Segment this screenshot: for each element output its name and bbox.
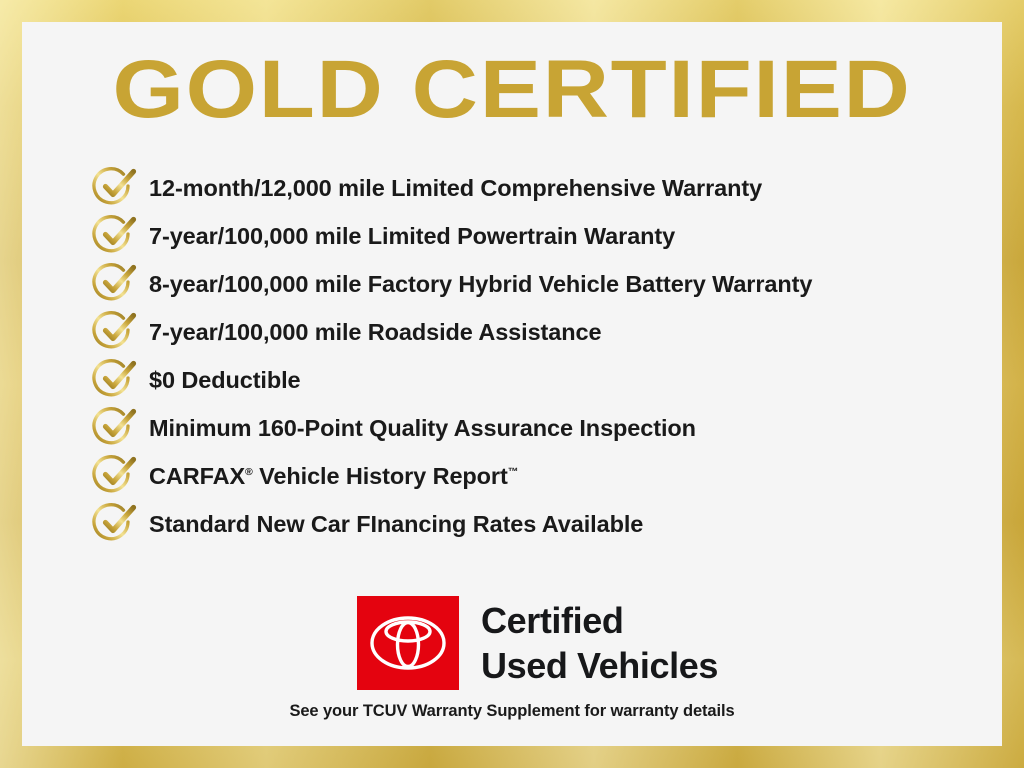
list-item-label: 8-year/100,000 mile Factory Hybrid Vehic… — [149, 271, 812, 297]
list-item: 7-year/100,000 mile Limited Powertrain W… — [92, 212, 992, 260]
carfax-word: CARFAX — [149, 463, 245, 489]
gold-check-circle-icon — [92, 501, 138, 545]
list-item: CARFAX® Vehicle History Report™ — [92, 452, 992, 500]
list-item: $0 Deductible — [92, 356, 992, 404]
list-item-label: 12-month/12,000 mile Limited Comprehensi… — [149, 175, 762, 201]
gold-check-circle-icon — [92, 309, 138, 353]
carfax-rest: Vehicle History Report — [253, 463, 508, 489]
list-item: Standard New Car FInancing Rates Availab… — [92, 500, 992, 548]
list-item-label: Standard New Car FInancing Rates Availab… — [149, 511, 643, 537]
lockup-text: Certified Used Vehicles — [481, 598, 718, 688]
toyota-emblem — [357, 596, 459, 690]
list-item: Minimum 160-Point Quality Assurance Insp… — [92, 404, 992, 452]
feature-list: 12-month/12,000 mile Limited Comprehensi… — [92, 164, 992, 548]
gold-check-circle-icon — [92, 261, 138, 305]
list-item: 7-year/100,000 mile Roadside Assistance — [92, 308, 992, 356]
list-item-label: 7-year/100,000 mile Roadside Assistance — [149, 319, 601, 345]
gold-check-circle-icon — [92, 357, 138, 401]
page-title: GOLD CERTIFIED — [0, 44, 1024, 136]
list-item-label-carfax: CARFAX® Vehicle History Report™ — [149, 463, 518, 489]
list-item-label: Minimum 160-Point Quality Assurance Insp… — [149, 415, 696, 441]
list-item: 12-month/12,000 mile Limited Comprehensi… — [92, 164, 992, 212]
gold-check-circle-icon — [92, 405, 138, 449]
gold-certified-badge: GOLD CERTIFIED — [0, 0, 1024, 768]
lockup-line-2: Used Vehicles — [481, 643, 718, 688]
lockup-line-1: Certified — [481, 598, 718, 643]
gold-check-circle-icon — [92, 213, 138, 257]
list-item: 8-year/100,000 mile Factory Hybrid Vehic… — [92, 260, 992, 308]
registered-mark: ® — [245, 466, 253, 478]
toyota-certified-lockup: Certified Used Vehicles — [357, 596, 718, 690]
trademark-mark: ™ — [508, 466, 518, 478]
gold-check-circle-icon — [92, 453, 138, 497]
list-item-label: 7-year/100,000 mile Limited Powertrain W… — [149, 223, 675, 249]
content-panel: GOLD CERTIFIED — [22, 22, 1002, 746]
gold-check-circle-icon — [92, 165, 138, 209]
list-item-label: $0 Deductible — [149, 367, 301, 393]
footer-disclaimer: See your TCUV Warranty Supplement for wa… — [22, 700, 1002, 722]
